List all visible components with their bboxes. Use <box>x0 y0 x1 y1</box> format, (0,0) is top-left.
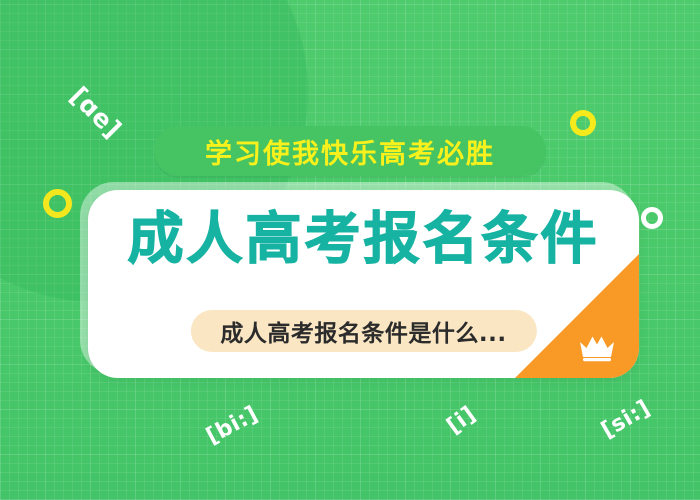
decorative-ring-yellow-left <box>43 189 72 218</box>
slogan-banner-text: 学习使我快乐高考必胜 <box>205 132 495 171</box>
poster-canvas: [ɑe] [bi:] [i] [si:] 学习使我快乐高考必胜 成人高考报名条件… <box>0 0 700 500</box>
headline-card: 成人高考报名条件 成人高考报名条件是什么... <box>88 190 639 378</box>
slogan-banner: 学习使我快乐高考必胜 <box>154 126 546 176</box>
page-title: 成人高考报名条件 <box>88 212 639 268</box>
crown-icon <box>577 332 617 362</box>
subtitle-text: 成人高考报名条件是什么... <box>220 314 506 348</box>
decorative-ring-white-right <box>641 207 663 229</box>
subtitle-pill: 成人高考报名条件是什么... <box>190 310 536 352</box>
decorative-ring-yellow-top <box>570 110 596 136</box>
